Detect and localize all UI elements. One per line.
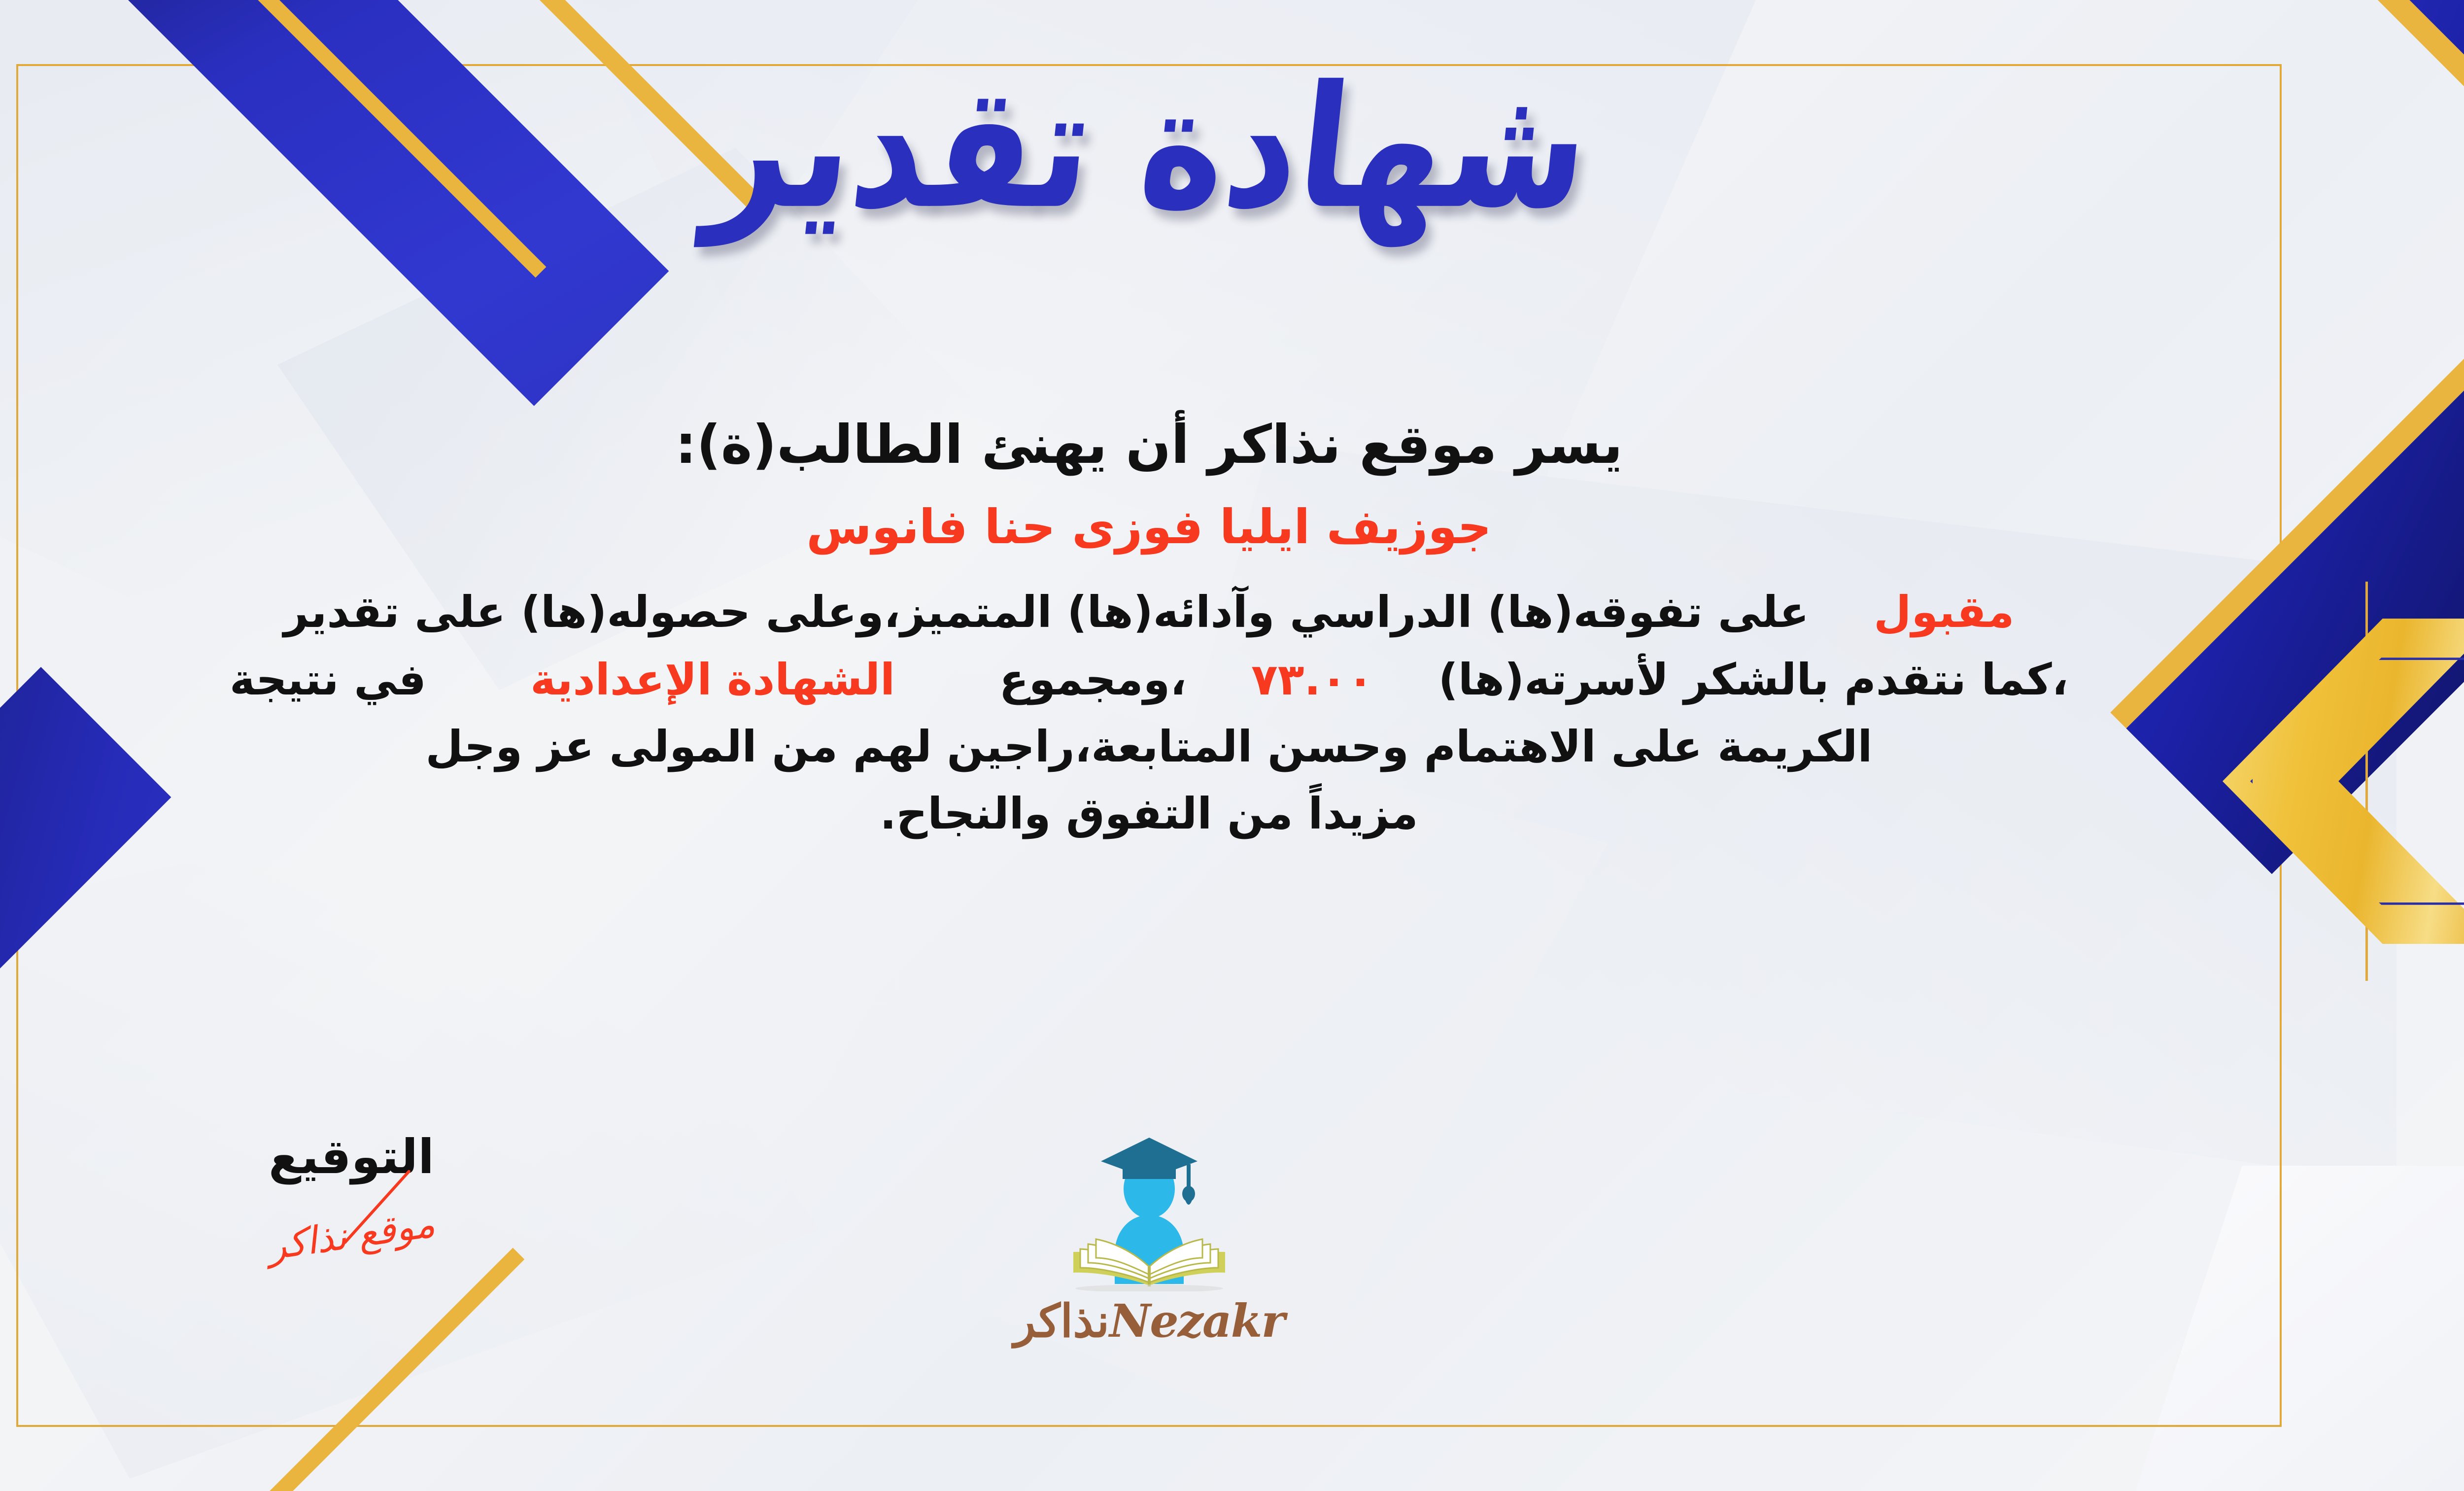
logo-latin-name: Nezakr: [1109, 1294, 1284, 1348]
right-gold-rule: [2365, 582, 2368, 981]
certificate-title: شهادة تقدير: [699, 43, 1599, 254]
graduation-cap-icon: [1101, 1138, 1198, 1179]
certificate-body: يسر موقع نذاكر أن يهنئ الطالب(ة): جوزيف …: [90, 409, 2208, 848]
citation-line-1-text: على تفوقه(ها) الدراسي وآدائه(ها) المتميز…: [284, 587, 1809, 637]
greeting-line: يسر موقع نذاكر أن يهنئ الطالب(ة):: [90, 409, 2208, 481]
exam-name-value: الشهادة الإعدادية: [530, 654, 895, 705]
signature-block: التوقيع موقع نذاكر: [199, 1129, 504, 1257]
certificate-title-wrap: شهادة تقدير: [0, 59, 2464, 238]
grade-value: مقبول: [1874, 587, 2014, 637]
citation-line-2-part-a: في نتيجة: [230, 654, 426, 705]
logo-wordmark: Nezakrنذاكر: [962, 1294, 1336, 1348]
student-name: جوزيف ايليا فوزى حنا فانوس: [90, 494, 2208, 560]
signature-label: التوقيع: [199, 1129, 504, 1185]
citation-paragraph: مقبول على تفوقه(ها) الدراسي وآدائه(ها) ا…: [90, 579, 2208, 848]
logo-graphic: [1026, 1129, 1272, 1291]
nezakr-logo: Nezakrنذاكر: [962, 1129, 1336, 1348]
logo-arabic-name: نذاكر: [1014, 1294, 1109, 1348]
citation-line-1: مقبول على تفوقه(ها) الدراسي وآدائه(ها) ا…: [90, 579, 2208, 646]
total-score-value: ٧٣.٠٠: [1251, 654, 1373, 705]
citation-line-2-part-b: ،ومجموع: [999, 654, 1186, 705]
citation-line-4: مزيداً من التفوق والنجاح.: [90, 780, 2208, 847]
citation-line-3: الكريمة على الاهتمام وحسن المتابعة،راجين…: [90, 713, 2208, 780]
citation-line-2-part-c: ،كما نتقدم بالشكر لأسرته(ها): [1438, 654, 2069, 705]
citation-line-2: ،كما نتقدم بالشكر لأسرته(ها) ٧٣.٠٠ ،ومجم…: [90, 646, 2208, 713]
certificate-page: شهادة تقدير يسر موقع نذاكر أن يهنئ الطال…: [0, 0, 2464, 1491]
